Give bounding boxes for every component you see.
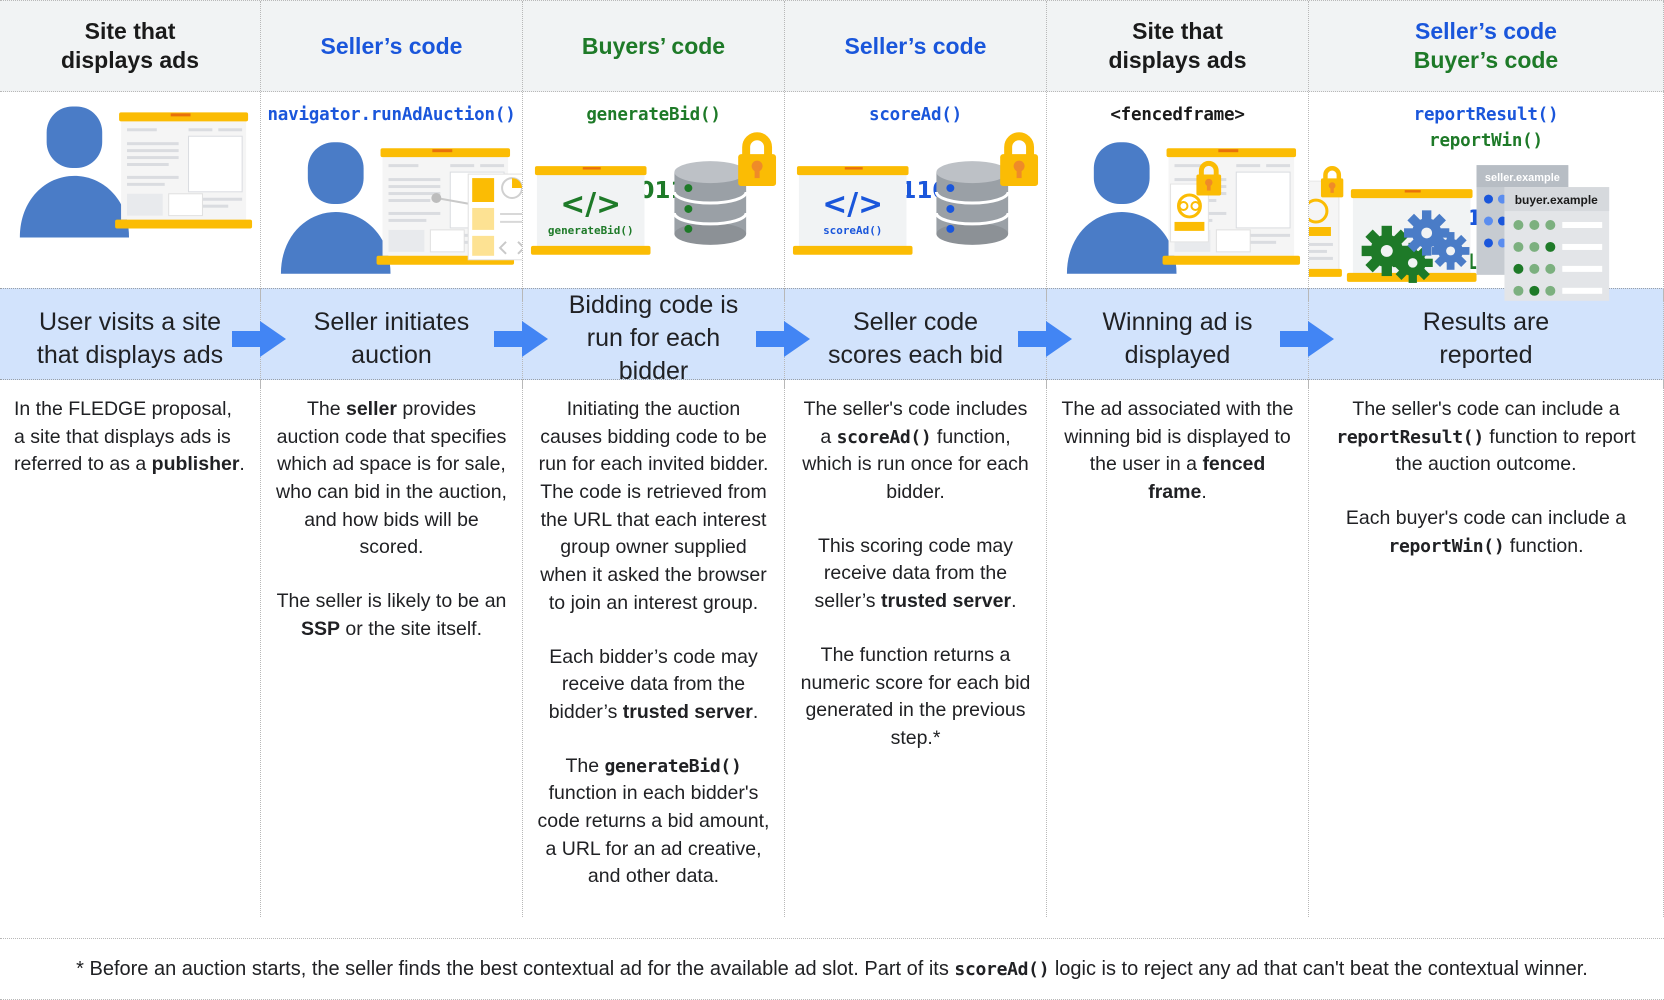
flow-arrow-icon [1278, 319, 1336, 359]
flow-arrow-icon [492, 319, 550, 359]
api-cell-5: <fencedframe> [1047, 92, 1309, 301]
illustration-code-window-blue-db-locked: 0110111 </> scoreA [785, 126, 1046, 276]
step-banner-text: Results arereported [1389, 306, 1583, 372]
fledge-auction-flow-diagram: Site thatdisplays adsSeller’s codeBuyers… [0, 0, 1664, 1000]
column-header-3: Buyers’ code [523, 1, 785, 91]
svg-text:seller.example: seller.example [1485, 172, 1560, 184]
api-label-group: scoreAd() [869, 92, 962, 128]
description-cell-5: The ad associated with the winning bid i… [1047, 380, 1309, 917]
column-header-4: Seller’s code [785, 1, 1047, 91]
api-label: reportResult() [1414, 104, 1559, 128]
description-paragraph: Each buyer's code can include a reportWi… [1323, 505, 1649, 560]
column-header-line: displays ads [1108, 46, 1246, 75]
description-cell-2: The seller provides auction code that sp… [261, 380, 523, 917]
column-header-2: Seller’s code [261, 1, 523, 91]
description-paragraph: The seller's code includes a scoreAd() f… [799, 396, 1032, 507]
illustration-gears-window-reports: 0110111 0110111 0 seller.example buyer.e… [1309, 151, 1663, 301]
illustration-user-at-browser [0, 90, 260, 240]
step-banner-text: Bidding code isrun for each bidder [523, 289, 784, 388]
step-banner-text: Winning ad isdisplayed [1068, 306, 1286, 372]
step-banner-1: User visits a sitethat displays ads [0, 289, 261, 388]
api-label-group: reportResult()reportWin() [1414, 92, 1559, 153]
description-cell-4: The seller's code includes a scoreAd() f… [785, 380, 1047, 917]
api-label-group: generateBid() [586, 92, 720, 128]
svg-text:buyer.example: buyer.example [1515, 193, 1598, 207]
column-header-line: Site that [85, 17, 176, 46]
description-paragraph: The seller's code can include a reportRe… [1323, 396, 1649, 479]
api-illustration-row: navigator.runAdAuction() [0, 92, 1664, 288]
api-cell-2: navigator.runAdAuction() [261, 92, 523, 301]
step-banner-line2: scores each bid [828, 339, 1003, 372]
description-row: In the FLEDGE proposal, a site that disp… [0, 380, 1664, 917]
description-paragraph: In the FLEDGE proposal, a site that disp… [14, 396, 246, 479]
description-paragraph: The ad associated with the winning bid i… [1061, 396, 1294, 507]
footnote: * Before an auction starts, the seller f… [0, 938, 1664, 1000]
step-banner-line1: Results are [1423, 306, 1549, 339]
step-banner-line2: that displays ads [37, 339, 223, 372]
description-cell-1: In the FLEDGE proposal, a site that disp… [0, 380, 261, 917]
description-paragraph: The generateBid() function in each bidde… [537, 753, 770, 891]
description-cell-3: Initiating the auction causes bidding co… [523, 380, 785, 917]
step-banner-line2: run for each bidder [557, 322, 750, 388]
svg-text:generateBid(): generateBid() [548, 223, 634, 236]
header-row: Site thatdisplays adsSeller’s codeBuyers… [0, 0, 1664, 92]
footnote-text: * Before an auction starts, the seller f… [76, 958, 1588, 981]
step-banner-4: Seller codescores each bid [785, 289, 1047, 388]
step-banner-text: Seller codescores each bid [794, 306, 1037, 372]
column-header-line: Seller’s code [321, 32, 463, 61]
step-banner-line2: auction [314, 339, 470, 372]
step-banner-line1: Winning ad is [1102, 306, 1252, 339]
step-banner-5: Winning ad isdisplayed [1047, 289, 1309, 388]
api-cell-1 [0, 92, 261, 301]
api-label: navigator.runAdAuction() [267, 104, 515, 128]
svg-text:</>: </> [560, 187, 621, 222]
api-label: reportWin() [1414, 130, 1559, 154]
api-label-group: <fencedframe> [1110, 92, 1244, 128]
column-header-6: Seller’s codeBuyer’s code [1309, 1, 1664, 91]
description-paragraph: The seller is likely to be an SSP or the… [275, 588, 508, 643]
column-header-line: displays ads [61, 46, 199, 75]
api-cell-3: generateBid() 1011110 [523, 92, 785, 301]
step-banner-text: User visits a sitethat displays ads [3, 306, 257, 372]
column-header-1: Site thatdisplays ads [0, 1, 261, 91]
description-cell-6: The seller's code can include a reportRe… [1309, 380, 1664, 917]
step-banner-line1: Seller code [828, 306, 1003, 339]
flow-arrow-icon [754, 319, 812, 359]
api-cell-4: scoreAd() 0110111 [785, 92, 1047, 301]
column-header-line: Seller’s code [845, 32, 987, 61]
svg-text:</>: </> [822, 187, 883, 222]
api-label: scoreAd() [869, 104, 962, 128]
step-banner-line1: User visits a site [37, 306, 223, 339]
illustration-code-window-green-db-locked: 1011110 </> genera [523, 126, 784, 276]
step-banner-3: Bidding code isrun for each bidder [523, 289, 785, 388]
column-header-line: Buyers’ code [582, 32, 725, 61]
step-banner-line2: reported [1423, 339, 1549, 372]
api-cell-6: reportResult()reportWin() 0110111 011011… [1309, 92, 1664, 301]
description-paragraph: Initiating the auction causes bidding co… [537, 396, 770, 618]
svg-text:scoreAd(): scoreAd() [823, 223, 882, 236]
api-label: generateBid() [586, 104, 720, 128]
api-label-group: navigator.runAdAuction() [267, 92, 515, 128]
step-banner-line1: Seller initiates [314, 306, 470, 339]
flow-arrow-icon [1016, 319, 1074, 359]
column-header-line: Buyer’s code [1414, 46, 1558, 75]
column-header-line: Seller’s code [1415, 17, 1557, 46]
description-paragraph: Each bidder’s code may receive data from… [537, 644, 770, 727]
api-label: <fencedframe> [1110, 104, 1244, 128]
step-banner-2: Seller initiatesauction [261, 289, 523, 388]
step-banner-6: Results arereported [1309, 289, 1664, 388]
description-paragraph: The seller provides auction code that sp… [275, 396, 508, 562]
column-header-line: Site that [1132, 17, 1223, 46]
illustration-user-at-browser-with-adslots [261, 126, 522, 276]
description-paragraph: This scoring code may receive data from … [799, 533, 1032, 616]
illustration-user-at-browser-fenced-ad [1047, 126, 1308, 276]
step-banner-line2: displayed [1102, 339, 1252, 372]
column-header-5: Site thatdisplays ads [1047, 1, 1309, 91]
step-banner-row: User visits a sitethat displays ads Sell… [0, 288, 1664, 380]
step-banner-text: Seller initiatesauction [280, 306, 504, 372]
flow-arrow-icon [230, 319, 288, 359]
description-paragraph: The function returns a numeric score for… [799, 642, 1032, 753]
step-banner-line1: Bidding code is [557, 289, 750, 322]
